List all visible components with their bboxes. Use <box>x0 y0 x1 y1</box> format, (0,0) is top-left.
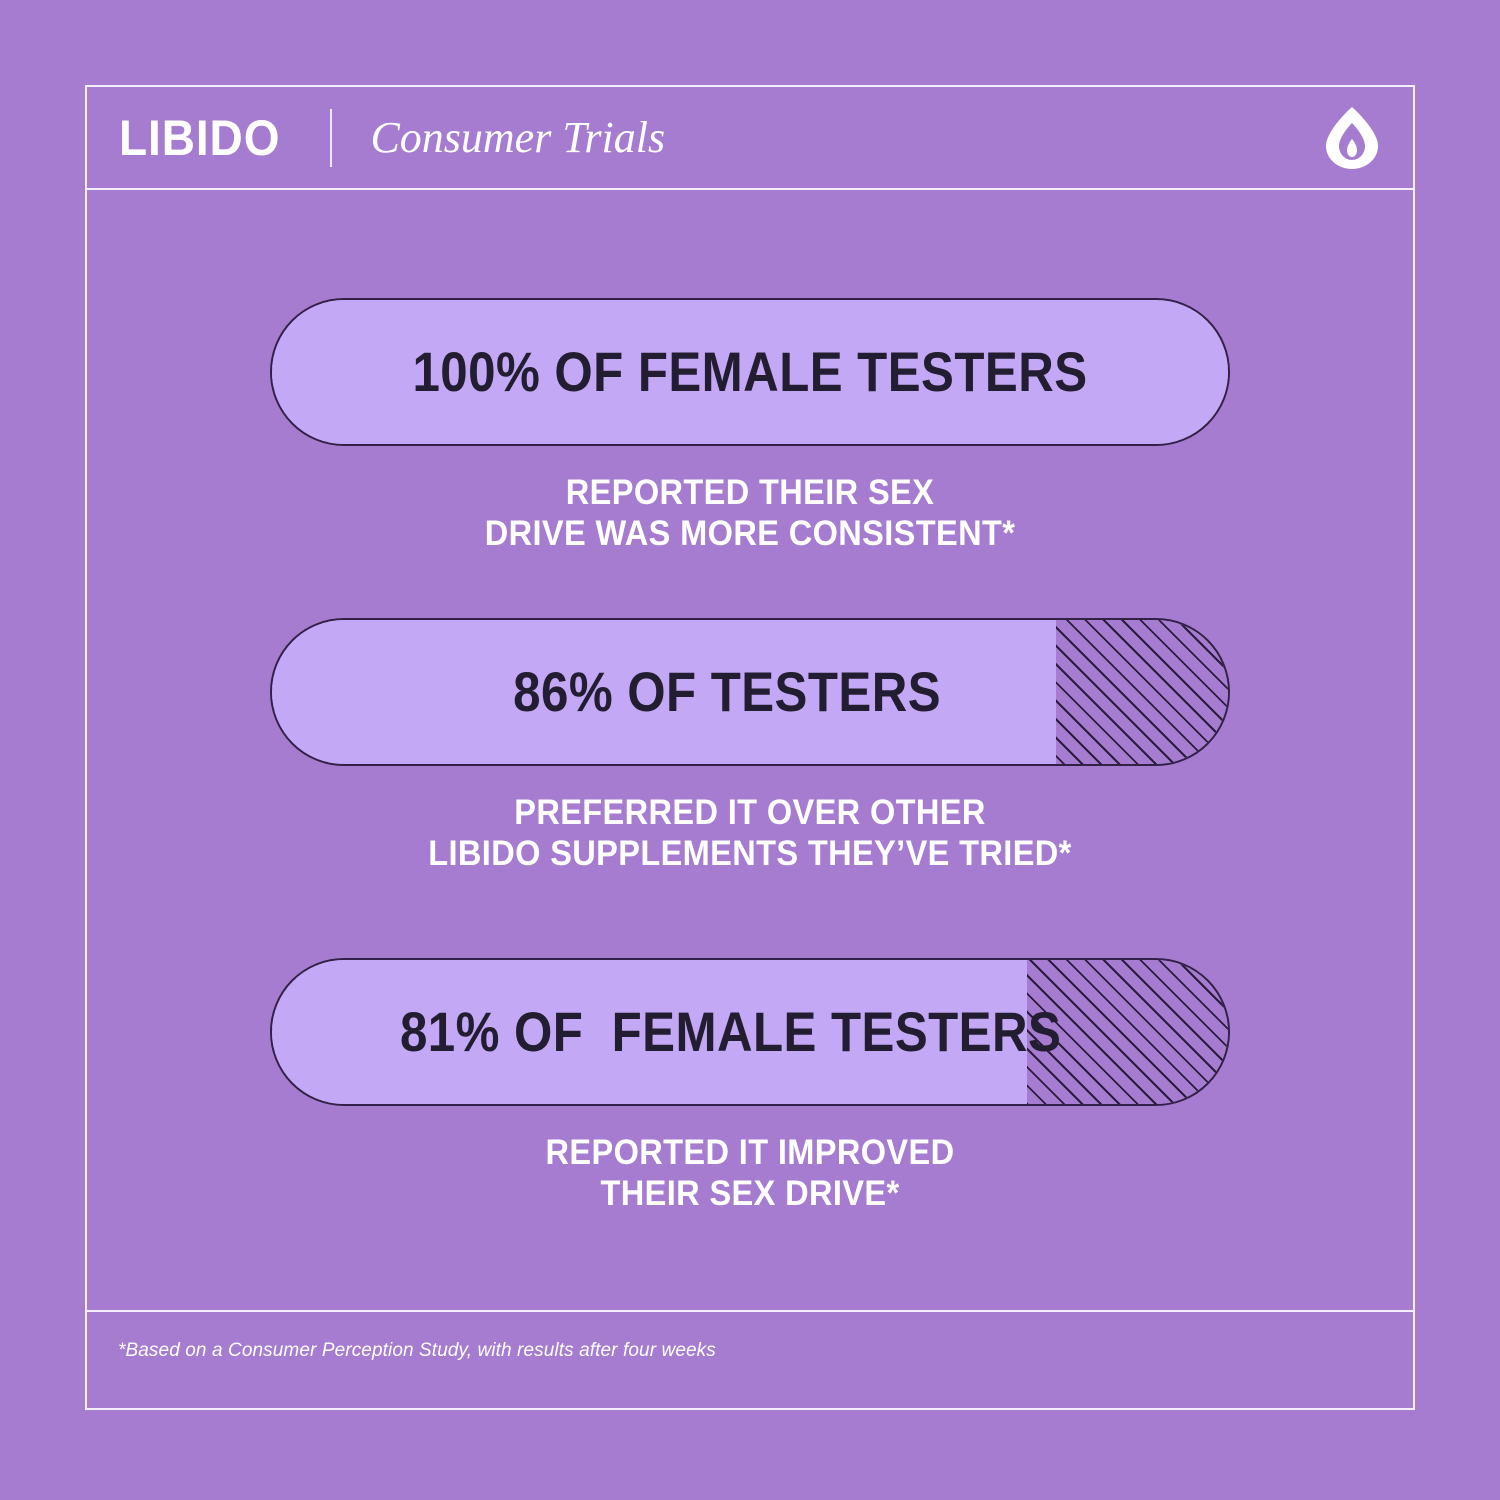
caption-line: PREFERRED IT OVER OTHER <box>304 792 1197 833</box>
stat-block-3: 81% OF FEMALE TESTERS REPORTED IT IMPROV… <box>270 958 1230 1215</box>
header-bar: LIBIDO Consumer Trials <box>87 87 1413 188</box>
caption-line: REPORTED IT IMPROVED <box>304 1132 1197 1173</box>
brand-title: LIBIDO <box>119 113 280 163</box>
caption-line: DRIVE WAS MORE CONSISTENT* <box>304 513 1197 554</box>
caption-line: REPORTED THEIR SEX <box>304 472 1197 513</box>
flame-icon <box>1323 106 1381 170</box>
bar-label-1: 100% OF FEMALE TESTERS <box>329 300 1170 444</box>
stat-caption-2: PREFERRED IT OVER OTHER LIBIDO SUPPLEMEN… <box>304 792 1197 875</box>
footer-divider-rule <box>87 1310 1413 1312</box>
infographic-poster: LIBIDO Consumer Trials 100% OF FEMALE TE… <box>0 0 1500 1500</box>
bar-label-3: 81% OF FEMALE TESTERS <box>310 960 1151 1104</box>
progress-bar-2: 86% OF TESTERS <box>270 618 1230 766</box>
progress-bar-3: 81% OF FEMALE TESTERS <box>270 958 1230 1106</box>
caption-line: THEIR SEX DRIVE* <box>304 1173 1197 1214</box>
brand-divider <box>330 109 332 167</box>
footnote-text: *Based on a Consumer Perception Study, w… <box>118 1340 716 1362</box>
bar-label-2: 86% OF TESTERS <box>306 620 1147 764</box>
stat-caption-1: REPORTED THEIR SEX DRIVE WAS MORE CONSIS… <box>304 472 1197 555</box>
caption-line: LIBIDO SUPPLEMENTS THEY’VE TRIED* <box>304 833 1197 874</box>
stat-block-2: 86% OF TESTERS PREFERRED IT OVER OTHER L… <box>270 618 1230 875</box>
header-subtitle: Consumer Trials <box>370 116 665 160</box>
brand-lockup: LIBIDO Consumer Trials <box>119 109 665 167</box>
stat-caption-3: REPORTED IT IMPROVED THEIR SEX DRIVE* <box>304 1132 1197 1215</box>
progress-bar-1: 100% OF FEMALE TESTERS <box>270 298 1230 446</box>
header-divider-rule <box>87 188 1413 190</box>
stat-block-1: 100% OF FEMALE TESTERS REPORTED THEIR SE… <box>270 298 1230 555</box>
